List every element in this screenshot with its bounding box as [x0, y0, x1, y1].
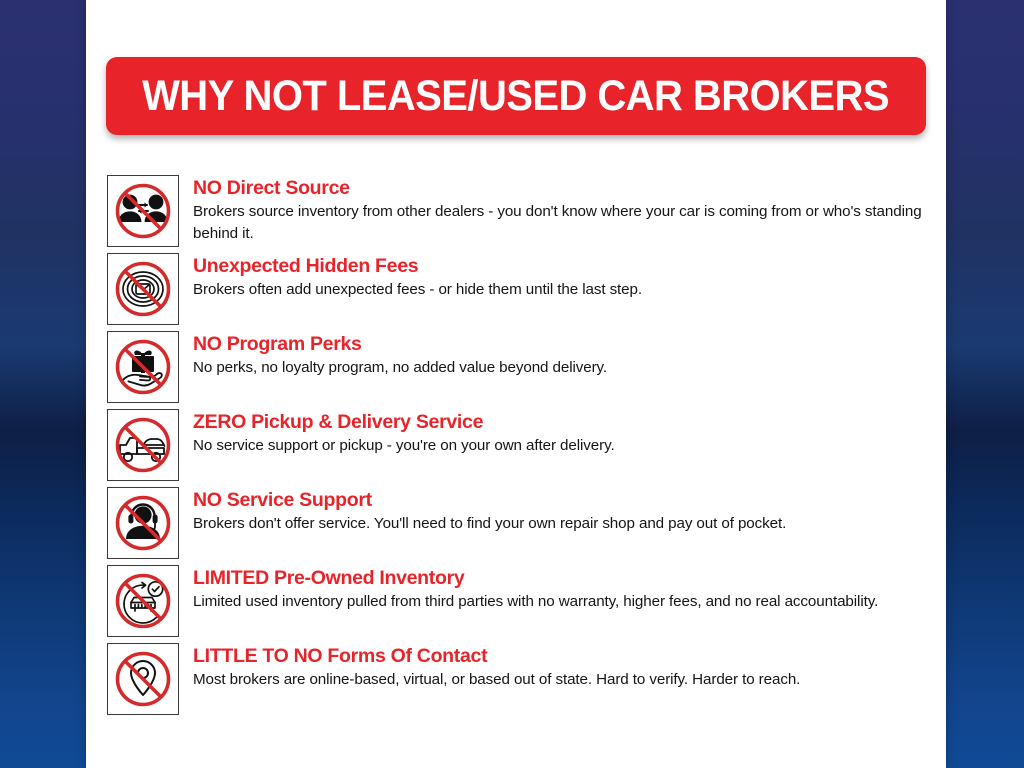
list-item-title: NO Direct Source	[193, 177, 937, 200]
list-item-description: Brokers don't offer service. You'll need…	[193, 513, 937, 535]
title-banner-background: WHY NOT LEASE/USED CAR BROKERS	[106, 57, 926, 135]
page-title: WHY NOT LEASE/USED CAR BROKERS	[143, 75, 890, 118]
list-item-description: No service support or pickup - you're on…	[193, 435, 937, 457]
list-item: Unexpected Hidden Fees Brokers often add…	[107, 253, 937, 331]
list-item-description: Most brokers are online-based, virtual, …	[193, 669, 937, 691]
no-location-pin-icon	[107, 643, 179, 715]
list-item-description: Limited used inventory pulled from third…	[193, 591, 937, 613]
white-content-card: WHY NOT LEASE/USED CAR BROKERS	[86, 0, 946, 768]
no-certified-car-icon	[107, 565, 179, 637]
no-tow-truck-delivery-icon	[107, 409, 179, 481]
list-item: NO Service Support Brokers don't offer s…	[107, 487, 937, 565]
list-item-text: NO Program Perks No perks, no loyalty pr…	[193, 331, 937, 379]
no-hidden-fees-icon	[107, 253, 179, 325]
list-item: NO Program Perks No perks, no loyalty pr…	[107, 331, 937, 409]
list-item-description: Brokers often add unexpected fees - or h…	[193, 279, 937, 301]
list-item-text: NO Service Support Brokers don't offer s…	[193, 487, 937, 535]
list-item-title: NO Program Perks	[193, 333, 937, 356]
no-headset-support-icon	[107, 487, 179, 559]
list-item-title: LITTLE TO NO Forms Of Contact	[193, 645, 937, 668]
no-gift-perks-icon	[107, 331, 179, 403]
list-item-title: Unexpected Hidden Fees	[193, 255, 937, 278]
title-banner: WHY NOT LEASE/USED CAR BROKERS	[106, 57, 926, 135]
list-item-title: NO Service Support	[193, 489, 937, 512]
list-item-text: NO Direct Source Brokers source inventor…	[193, 175, 937, 244]
list-item: LITTLE TO NO Forms Of Contact Most broke…	[107, 643, 937, 721]
list-item: ZERO Pickup & Delivery Service No servic…	[107, 409, 937, 487]
list-item-text: ZERO Pickup & Delivery Service No servic…	[193, 409, 937, 457]
list-item-text: LITTLE TO NO Forms Of Contact Most broke…	[193, 643, 937, 691]
poster-page: WHY NOT LEASE/USED CAR BROKERS	[0, 0, 1024, 768]
list-item-text: Unexpected Hidden Fees Brokers often add…	[193, 253, 937, 301]
list-item: NO Direct Source Brokers source inventor…	[107, 175, 937, 253]
reasons-list: NO Direct Source Brokers source inventor…	[107, 175, 937, 721]
list-item-text: LIMITED Pre-Owned Inventory Limited used…	[193, 565, 937, 613]
list-item-description: Brokers source inventory from other deal…	[193, 201, 937, 244]
list-item-title: LIMITED Pre-Owned Inventory	[193, 567, 937, 590]
no-direct-source-icon	[107, 175, 179, 247]
list-item-title: ZERO Pickup & Delivery Service	[193, 411, 937, 434]
list-item: LIMITED Pre-Owned Inventory Limited used…	[107, 565, 937, 643]
list-item-description: No perks, no loyalty program, no added v…	[193, 357, 937, 379]
